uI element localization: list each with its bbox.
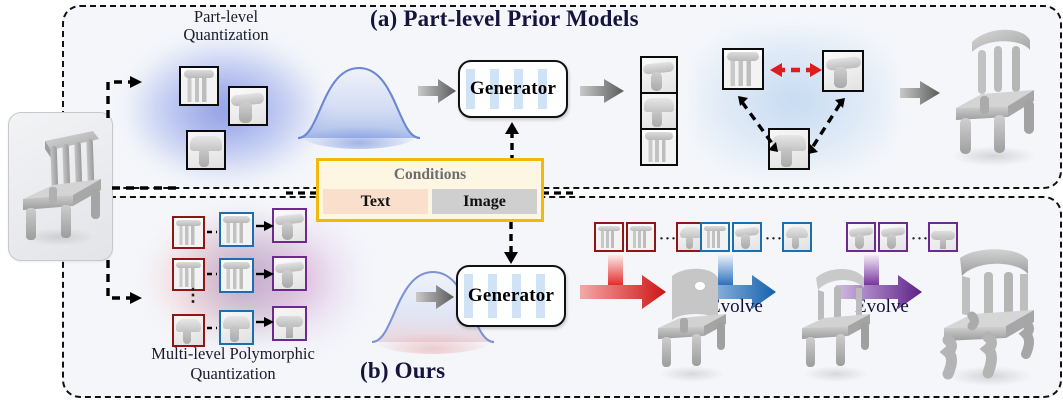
part-thumb — [702, 224, 728, 250]
part-thumb — [848, 224, 874, 250]
part-patch-a2[interactable] — [228, 86, 268, 126]
part-thumb — [174, 218, 203, 247]
generator-label-a: Generator — [460, 62, 566, 116]
part-thumb — [181, 68, 217, 104]
conditions-title: Conditions — [319, 161, 541, 188]
part-thumb — [642, 58, 676, 92]
stage3-token-a[interactable] — [846, 222, 876, 252]
part-thumb — [642, 94, 676, 128]
figure-canvas: (a) Part-level Prior Models (b) Ours Par… — [0, 0, 1063, 400]
conditions-box[interactable]: Conditions Text Image — [316, 158, 544, 222]
generated-token-a1[interactable] — [640, 56, 678, 94]
part-patch-a1[interactable] — [179, 66, 219, 106]
stage2-token-ellipsis: ··· — [765, 231, 783, 248]
stage1-chair — [646, 262, 742, 390]
prior-distribution-curve-a — [292, 52, 426, 150]
part-thumb — [880, 224, 906, 250]
part-thumb — [642, 130, 676, 164]
condition-option-text[interactable]: Text — [323, 189, 428, 214]
stage3-token-ellipsis: ··· — [911, 231, 929, 248]
multi-level-quantization-label-line2: Quantization — [113, 365, 353, 383]
part-thumb — [628, 224, 654, 250]
generator-box-b[interactable]: Generator — [456, 265, 566, 327]
part-thumb — [174, 316, 203, 345]
stage3-chair-final — [930, 244, 1052, 394]
part-patch-a3[interactable] — [186, 130, 226, 170]
vertical-ellipsis-levels: ⋮ — [184, 292, 203, 298]
part-thumb — [734, 224, 760, 250]
conditions-options: Text Image — [323, 189, 537, 214]
stage1-token-1[interactable] — [594, 222, 624, 252]
generated-token-a2[interactable] — [640, 92, 678, 130]
part-thumb — [784, 224, 810, 250]
panel-a-title: (a) Part-level Prior Models — [370, 6, 639, 32]
ellipsis-glyph: ⋮ — [184, 285, 203, 305]
arrow-to-output-chair-a — [898, 80, 942, 106]
arrow-generator-to-tokens-a — [578, 78, 626, 104]
conditions-arrow-down-b — [503, 222, 523, 268]
level-connectors — [200, 204, 280, 354]
part-thumb — [596, 224, 622, 250]
arrow-to-generator-b — [414, 284, 456, 310]
generator-box-a[interactable]: Generator — [458, 60, 568, 118]
stage2-chair — [790, 262, 886, 390]
conditions-arrow-up-a — [504, 118, 524, 162]
generated-token-a3[interactable] — [640, 128, 678, 166]
condition-option-image[interactable]: Image — [432, 189, 537, 214]
conditions-right-dash — [542, 186, 582, 200]
stage2-token-b[interactable] — [732, 222, 762, 252]
part-level-quantization-label-line1: Part-level — [163, 8, 289, 26]
stage2-token-c[interactable] — [782, 222, 812, 252]
stage1-token-ellipsis: ··· — [659, 231, 677, 248]
input-branch-arrows — [60, 60, 180, 350]
part-thumb — [230, 88, 266, 124]
part-level-quantization-label-line2: Quantization — [163, 26, 289, 44]
stage2-token-a[interactable] — [700, 222, 730, 252]
panel-b-title: (b) Ours — [360, 358, 445, 384]
arrow-to-generator-a — [416, 78, 458, 104]
generator-label-b: Generator — [458, 267, 564, 325]
stage3-token-b[interactable] — [878, 222, 908, 252]
stage1-token-2[interactable] — [626, 222, 656, 252]
part-thumb — [188, 132, 224, 168]
relation-arrows — [700, 40, 900, 180]
output-chair-baseline — [938, 16, 1050, 174]
